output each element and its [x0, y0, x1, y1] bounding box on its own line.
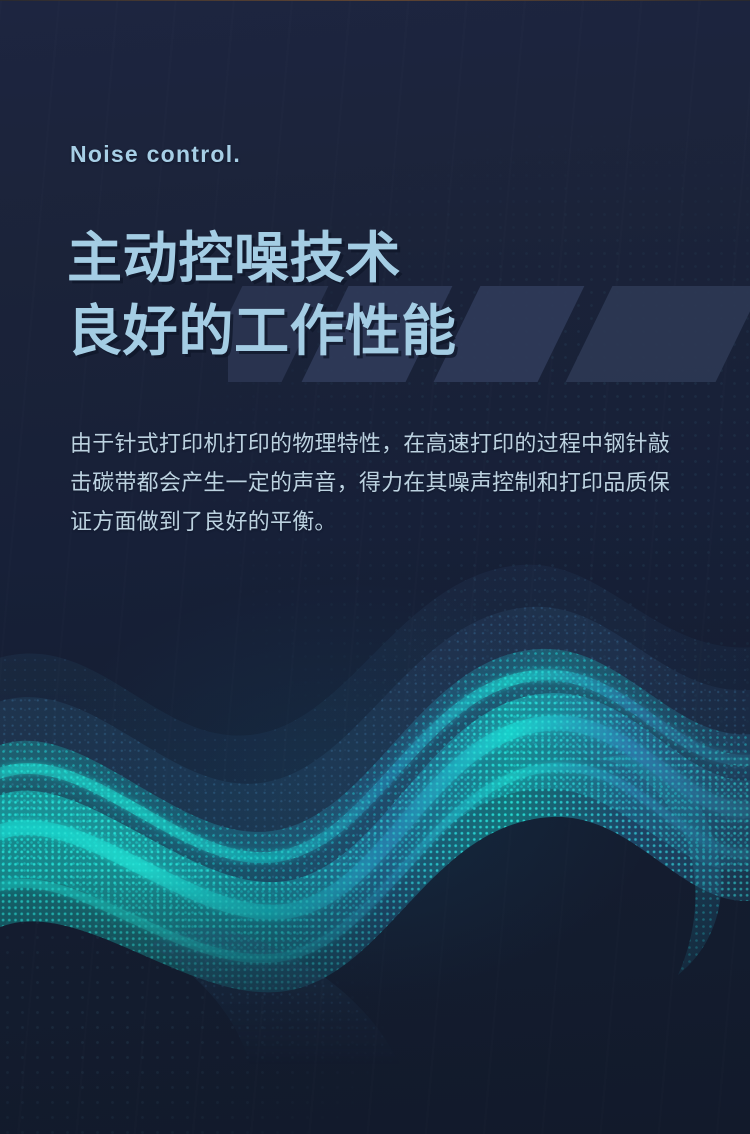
particle-wave-graphic	[0, 545, 750, 1065]
headline-line-2: 良好的工作性能	[67, 295, 457, 368]
body-paragraph: 由于针式打印机打印的物理特性，在高速打印的过程中钢针敲击碳带都会产生一定的声音，…	[70, 424, 686, 541]
diagonal-stripe	[556, 286, 750, 382]
headline-line-1: 主动控噪技术	[67, 222, 457, 295]
noise-control-banner: Noise control. 主动控噪技术 良好的工作性能 由于针式打印机打印的…	[0, 0, 750, 1134]
eyebrow-label: Noise control.	[70, 141, 241, 168]
top-divider	[0, 0, 750, 1]
page-title: 主动控噪技术 良好的工作性能	[67, 222, 457, 368]
